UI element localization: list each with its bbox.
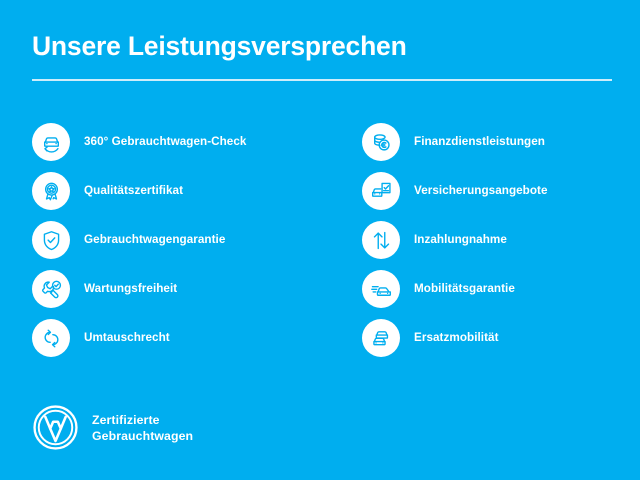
list-item-label: Versicherungsangebote [414,184,548,198]
list-item-label: Mobilitätsgarantie [414,282,515,296]
promises-column-left: 360° Gebrauchtwagen-Check Qualitätszerti… [32,123,317,357]
car-360-check-icon [32,123,70,161]
list-item[interactable]: Wartungsfreiheit [32,270,317,308]
list-item[interactable]: Umtauschrecht [32,319,317,357]
exchange-arrows-icon [32,319,70,357]
list-item[interactable]: Qualitätszertifikat [32,172,317,210]
car-document-icon [362,172,400,210]
promises-panel: Unsere Leistungsversprechen 360° Gebrauc… [0,0,640,480]
promises-column-right: Finanzdienstleistungen Versicherungsange… [362,123,640,357]
brand-footer: Zertifizierte Gebrauchtwagen [32,404,193,451]
brand-text-line2: Gebrauchtwagen [92,428,193,444]
quality-seal-icon [32,172,70,210]
car-motion-icon [362,270,400,308]
list-item[interactable]: Versicherungsangebote [362,172,640,210]
header: Unsere Leistungsversprechen [32,30,612,81]
two-cars-icon [362,319,400,357]
list-item[interactable]: Ersatzmobilität [362,319,640,357]
coins-euro-icon [362,123,400,161]
brand-text: Zertifizierte Gebrauchtwagen [92,412,193,444]
list-item-label: Gebrauchtwagengarantie [84,233,225,247]
list-item[interactable]: Inzahlungnahme [362,221,640,259]
list-item-label: Qualitätszertifikat [84,184,183,198]
list-item[interactable]: 360° Gebrauchtwagen-Check [32,123,317,161]
wrench-check-icon [32,270,70,308]
list-item-label: 360° Gebrauchtwagen-Check [84,135,246,149]
list-item-label: Inzahlungnahme [414,233,507,247]
list-item[interactable]: Finanzdienstleistungen [362,123,640,161]
list-item-label: Umtauschrecht [84,331,170,345]
shield-check-icon [32,221,70,259]
title-divider [32,79,612,81]
volkswagen-logo-icon [32,404,79,451]
list-item-label: Ersatzmobilität [414,331,499,345]
list-item-label: Finanzdienstleistungen [414,135,545,149]
page-title: Unsere Leistungsversprechen [32,30,612,62]
arrows-up-down-icon [362,221,400,259]
list-item-label: Wartungsfreiheit [84,282,177,296]
list-item[interactable]: Mobilitätsgarantie [362,270,640,308]
list-item[interactable]: Gebrauchtwagengarantie [32,221,317,259]
brand-text-line1: Zertifizierte [92,412,193,428]
